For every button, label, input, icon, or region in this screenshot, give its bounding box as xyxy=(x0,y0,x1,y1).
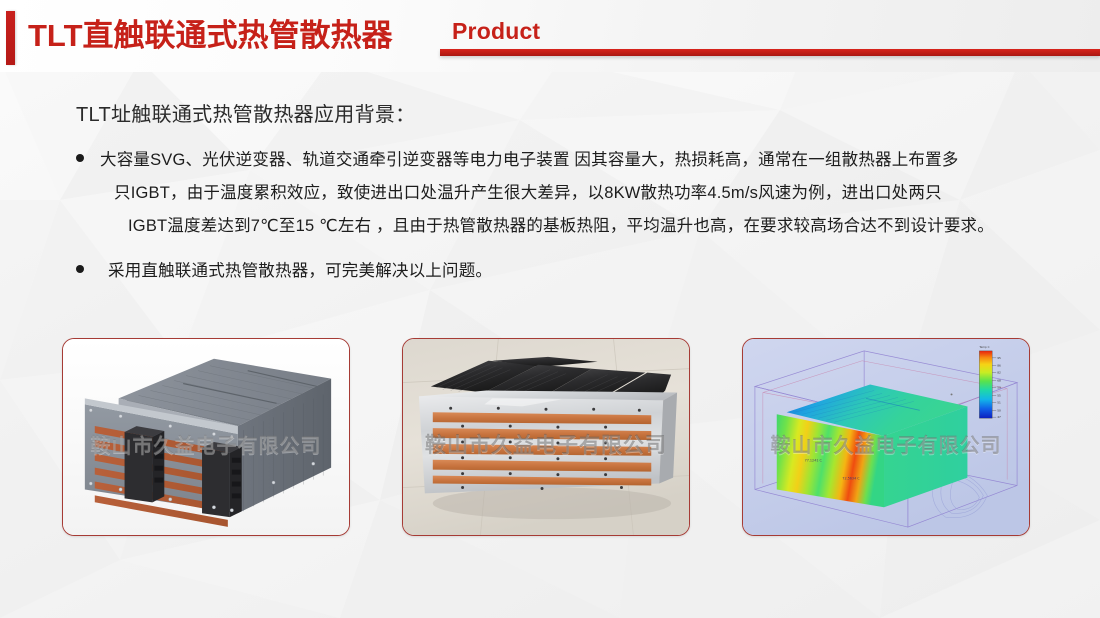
svg-text:82: 82 xyxy=(997,371,1001,375)
figure-cfd-simulation[interactable]: 77.1241 C 72.5634 C xyxy=(742,338,1030,536)
bullet-line: IGBT温度差达到7℃至15 ℃左右 ，且由于热管散热器的基板热阻，平均温升也高… xyxy=(100,210,1086,243)
cfd-thermal-image: 77.1241 C 72.5634 C xyxy=(743,339,1029,535)
bullet-item: 采用直触联通式热管散热器，可完美解决以上问题。 xyxy=(76,255,1086,288)
svg-text:77.1241 C: 77.1241 C xyxy=(805,459,823,463)
svg-text:95: 95 xyxy=(997,356,1001,360)
svg-text:50: 50 xyxy=(997,408,1001,412)
header-underline-bar xyxy=(440,49,1100,56)
svg-text:51: 51 xyxy=(997,400,1001,404)
colorbar: 95 86 82 68 59 55 51 50 47 Temp C xyxy=(978,345,1001,419)
page-title: TLT直触联通式热管散热器 xyxy=(28,11,393,61)
bullet-dot-icon xyxy=(76,154,84,162)
svg-text:86: 86 xyxy=(997,364,1001,368)
cad-render-image xyxy=(63,339,349,535)
figure-cad-render-heatsink[interactable]: 鞍山市久益电子有限公司 xyxy=(62,338,350,536)
svg-text:Temp C: Temp C xyxy=(978,345,989,349)
svg-text:59: 59 xyxy=(997,385,1001,389)
bullet-line: 大容量SVG、光伏逆变器、轨道交通牵引逆变器等电力电子装置 因其容量大，热损耗高… xyxy=(100,144,1086,177)
bullet-list: 大容量SVG、光伏逆变器、轨道交通牵引逆变器等电力电子装置 因其容量大，热损耗高… xyxy=(76,144,1086,300)
figure-photo-heatsink[interactable]: 鞍山市久益电子有限公司 xyxy=(402,338,690,536)
bullet-dot-icon xyxy=(76,265,84,273)
svg-text:68: 68 xyxy=(997,379,1001,383)
bullet-text: 大容量SVG、光伏逆变器、轨道交通牵引逆变器等电力电子装置 因其容量大，热损耗高… xyxy=(100,144,1086,243)
bullet-line: 采用直触联通式热管散热器，可完美解决以上问题。 xyxy=(108,255,1086,288)
content-subtitle: TLT址触联通式热管散热器应用背景： xyxy=(76,98,415,127)
slide-header: TLT直触联通式热管散热器 Product xyxy=(0,0,1100,72)
product-photo-image xyxy=(403,339,689,535)
figure-row: 鞍山市久益电子有限公司 xyxy=(0,338,1100,538)
header-accent-bar xyxy=(6,11,15,65)
page-title-en: Product xyxy=(452,18,540,45)
bullet-line: 只IGBT，由于温度累积效应，致使进出口处温升产生很大差异，以8KW散热功率4.… xyxy=(100,177,1086,210)
svg-text:72.5634 C: 72.5634 C xyxy=(842,477,860,481)
bullet-text: 采用直触联通式热管散热器，可完美解决以上问题。 xyxy=(108,255,1086,288)
bullet-item: 大容量SVG、光伏逆变器、轨道交通牵引逆变器等电力电子装置 因其容量大，热损耗高… xyxy=(76,144,1086,243)
svg-text:47: 47 xyxy=(997,415,1001,419)
slide-canvas: TLT直触联通式热管散热器 Product TLT址触联通式热管散热器应用背景：… xyxy=(0,0,1100,618)
svg-text:55: 55 xyxy=(997,393,1001,397)
